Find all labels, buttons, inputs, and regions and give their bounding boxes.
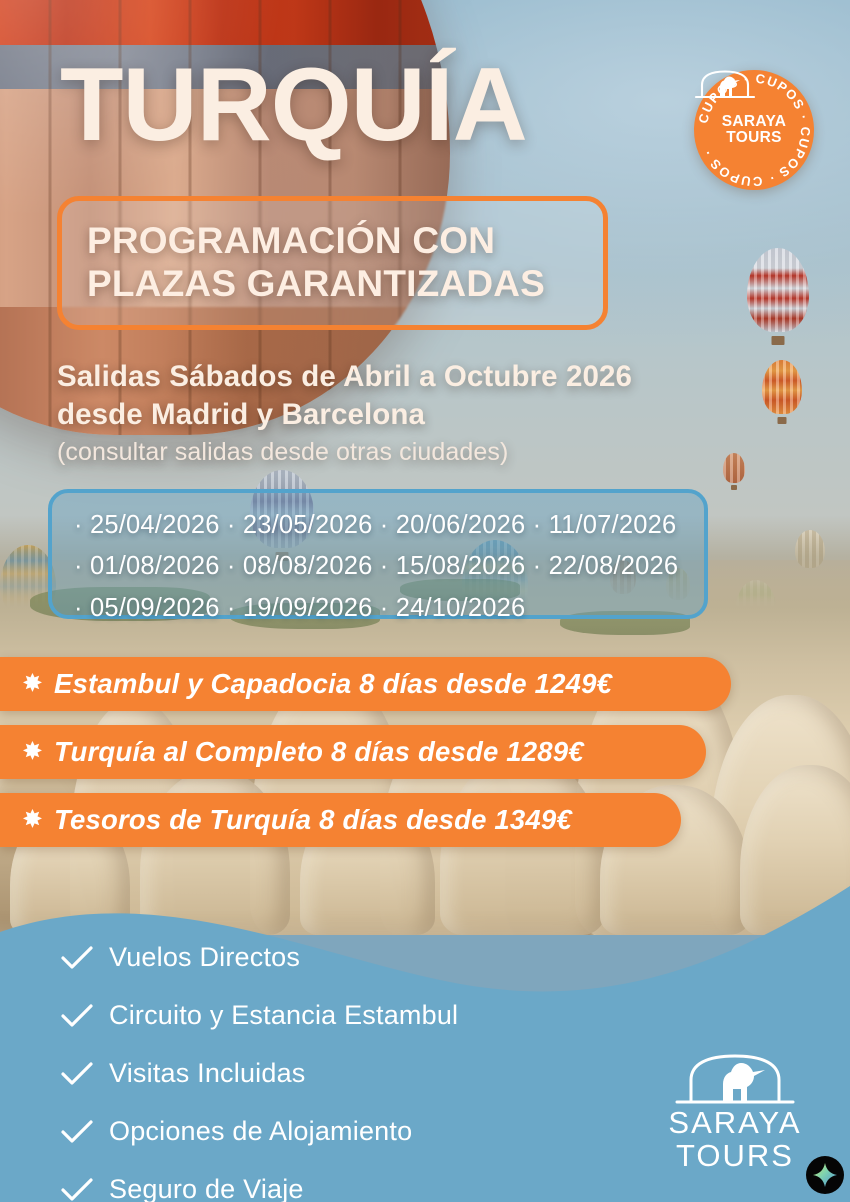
cupos-badge: CUPOS · CUPOS · CUPOS · CUPOS · SARAYA T…: [694, 70, 814, 190]
offer-bar-estambul-capadocia[interactable]: ✸ Estambul y Capadocia 8 días desde 1249…: [0, 657, 731, 711]
arch-camel-icon: [673, 1052, 797, 1104]
promo-line-1: PROGRAMACIÓN CON: [87, 220, 545, 263]
cupos-brand-line1: SARAYA: [722, 114, 786, 130]
dates-row-1: · 25/04/2026 · 23/05/2026 · 20/06/2026 ·…: [74, 505, 704, 546]
saraya-tours-logo: SARAYA TOURS: [660, 1052, 810, 1174]
feature-item: Circuito y Estancia Estambul: [60, 994, 580, 1037]
sky-balloon: [762, 360, 802, 414]
sparkle-icon: ✸: [22, 672, 43, 697]
departures-block: Salidas Sábados de Abril a Octubre 2026 …: [57, 358, 632, 468]
feature-item: Seguro de Viaje: [60, 1168, 580, 1202]
dates-row-3: · 05/09/2026 · 19/09/2026 · 24/10/2026: [74, 588, 704, 629]
features-list: Vuelos Directos Circuito y Estancia Esta…: [60, 936, 580, 1202]
check-icon: [60, 1060, 94, 1088]
feature-label: Seguro de Viaje: [109, 1174, 304, 1202]
dates-row-2: · 01/08/2026 · 08/08/2026 · 15/08/2026 ·…: [74, 546, 704, 587]
feature-label: Circuito y Estancia Estambul: [109, 1000, 458, 1031]
offer-bar-turquia-completo[interactable]: ✸ Turquía al Completo 8 días desde 1289€: [0, 725, 706, 779]
check-icon: [60, 1002, 94, 1030]
departures-line-1: Salidas Sábados de Abril a Octubre 2026: [57, 358, 632, 396]
departures-line-2: desde Madrid y Barcelona: [57, 396, 632, 434]
arch-camel-icon: [694, 70, 756, 98]
page-title: TURQUÍA: [60, 56, 527, 155]
check-icon: [60, 1176, 94, 1202]
offer-label: Turquía al Completo 8 días desde 1289€: [54, 736, 584, 768]
check-icon: [60, 1118, 94, 1146]
logo-line-1: SARAYA: [668, 1106, 801, 1139]
logo-line-2: TOURS: [676, 1139, 794, 1174]
sparkle-icon: ✸: [22, 740, 43, 765]
promo-line-2: PLAZAS GARANTIZADAS: [87, 263, 545, 306]
offer-label: Estambul y Capadocia 8 días desde 1249€: [54, 668, 612, 700]
feature-item: Vuelos Directos: [60, 936, 580, 979]
departures-note: (consultar salidas desde otras ciudades): [57, 436, 632, 469]
promo-text: PROGRAMACIÓN CON PLAZAS GARANTIZADAS: [87, 220, 545, 306]
sky-balloon: [747, 248, 809, 332]
promo-box: PROGRAMACIÓN CON PLAZAS GARANTIZADAS: [57, 196, 608, 330]
feature-label: Vuelos Directos: [109, 942, 300, 973]
sparkle-icon: ✸: [22, 808, 43, 833]
feature-label: Opciones de Alojamiento: [109, 1116, 412, 1147]
cupos-brand-line2: TOURS: [726, 129, 781, 146]
travel-poster: TURQUÍA CUPOS · CUPOS · CUPOS · CUPOS · …: [0, 0, 850, 1202]
dates-box: · 25/04/2026 · 23/05/2026 · 20/06/2026 ·…: [48, 489, 708, 619]
four-point-star-icon: [812, 1162, 838, 1188]
check-icon: [60, 944, 94, 972]
feature-label: Visitas Incluidas: [109, 1058, 306, 1089]
offer-bar-tesoros-turquia[interactable]: ✸ Tesoros de Turquía 8 días desde 1349€: [0, 793, 681, 847]
corner-star-badge[interactable]: [806, 1156, 844, 1194]
sky-balloon: [723, 453, 745, 483]
offer-label: Tesoros de Turquía 8 días desde 1349€: [54, 804, 572, 836]
feature-item: Visitas Incluidas: [60, 1052, 580, 1095]
feature-item: Opciones de Alojamiento: [60, 1110, 580, 1153]
